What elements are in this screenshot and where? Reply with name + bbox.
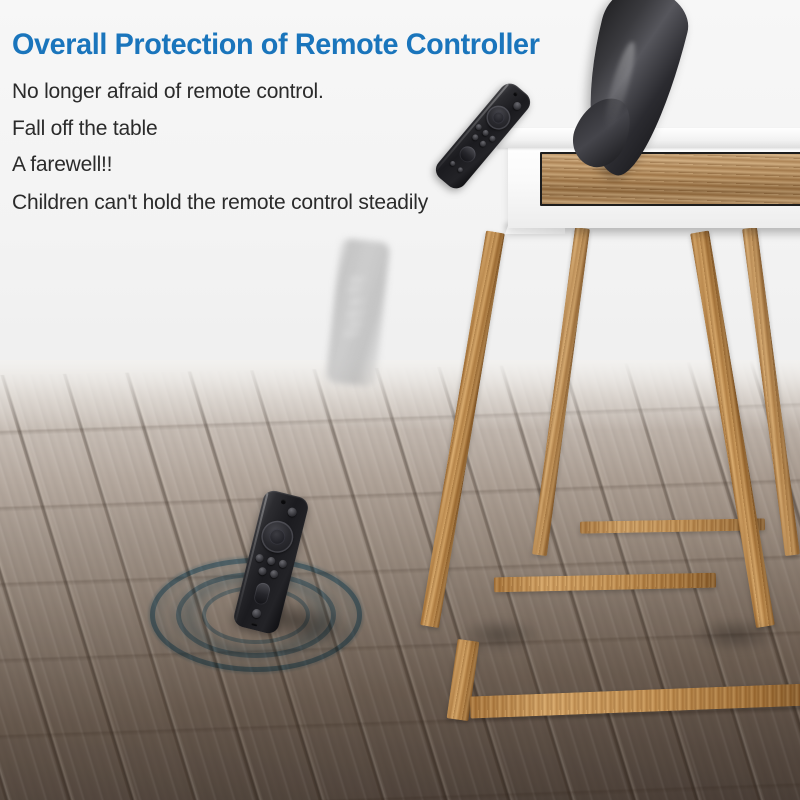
table-leg-shadow-right bbox=[690, 618, 780, 652]
body-line-1: No longer afraid of remote control. bbox=[12, 80, 324, 104]
remote-mic-hole bbox=[280, 499, 286, 505]
desk-drawer-wood-panel bbox=[540, 152, 800, 206]
table-stretcher-front bbox=[470, 683, 800, 718]
table-leg-front-left bbox=[420, 230, 505, 628]
remote-rewind-button bbox=[258, 566, 268, 576]
remote-volume-button bbox=[251, 608, 262, 619]
falling-remote-streak bbox=[350, 299, 365, 305]
falling-remote-streak bbox=[345, 330, 361, 336]
table-leg-rear-left bbox=[532, 227, 590, 556]
remote-ir-window bbox=[251, 622, 258, 626]
remote-select-button bbox=[490, 109, 507, 126]
remote-mic-hole bbox=[513, 91, 519, 97]
remote-playpause-button bbox=[456, 143, 479, 166]
falling-remote-streak bbox=[348, 310, 366, 316]
remote-volume-up-button bbox=[457, 166, 464, 173]
remote-volume-down-button bbox=[449, 160, 456, 167]
remote-dpad-ring bbox=[258, 517, 297, 556]
remote-home-button bbox=[481, 129, 489, 137]
body-line-2: Fall off the table bbox=[12, 117, 157, 141]
remote-rewind-button bbox=[471, 133, 479, 141]
remote-menu-button bbox=[488, 134, 496, 142]
remote-power-button bbox=[512, 100, 523, 111]
remote-back-button bbox=[474, 123, 482, 131]
page-title: Overall Protection of Remote Controller bbox=[12, 28, 540, 62]
remote-playpause-button bbox=[253, 581, 272, 606]
falling-remote-streak bbox=[350, 321, 364, 326]
falling-remote-streak bbox=[348, 286, 362, 291]
remote-select-button bbox=[268, 527, 287, 546]
body-line-4: Children can't hold the remote control s… bbox=[12, 191, 428, 215]
remote-power-button bbox=[287, 507, 298, 518]
product-feature-image: Overall Protection of Remote Controller … bbox=[0, 0, 800, 800]
table-brace-front bbox=[494, 573, 716, 593]
falling-remote-streak bbox=[350, 277, 366, 283]
remote-home-button bbox=[266, 556, 276, 566]
remote-forward-button bbox=[269, 569, 279, 579]
table-leg-shadow-left bbox=[460, 618, 540, 652]
remote-back-button bbox=[255, 553, 265, 563]
remote-menu-button bbox=[278, 559, 288, 569]
remote-forward-button bbox=[479, 140, 487, 148]
body-line-3: A farewell!! bbox=[12, 153, 112, 177]
